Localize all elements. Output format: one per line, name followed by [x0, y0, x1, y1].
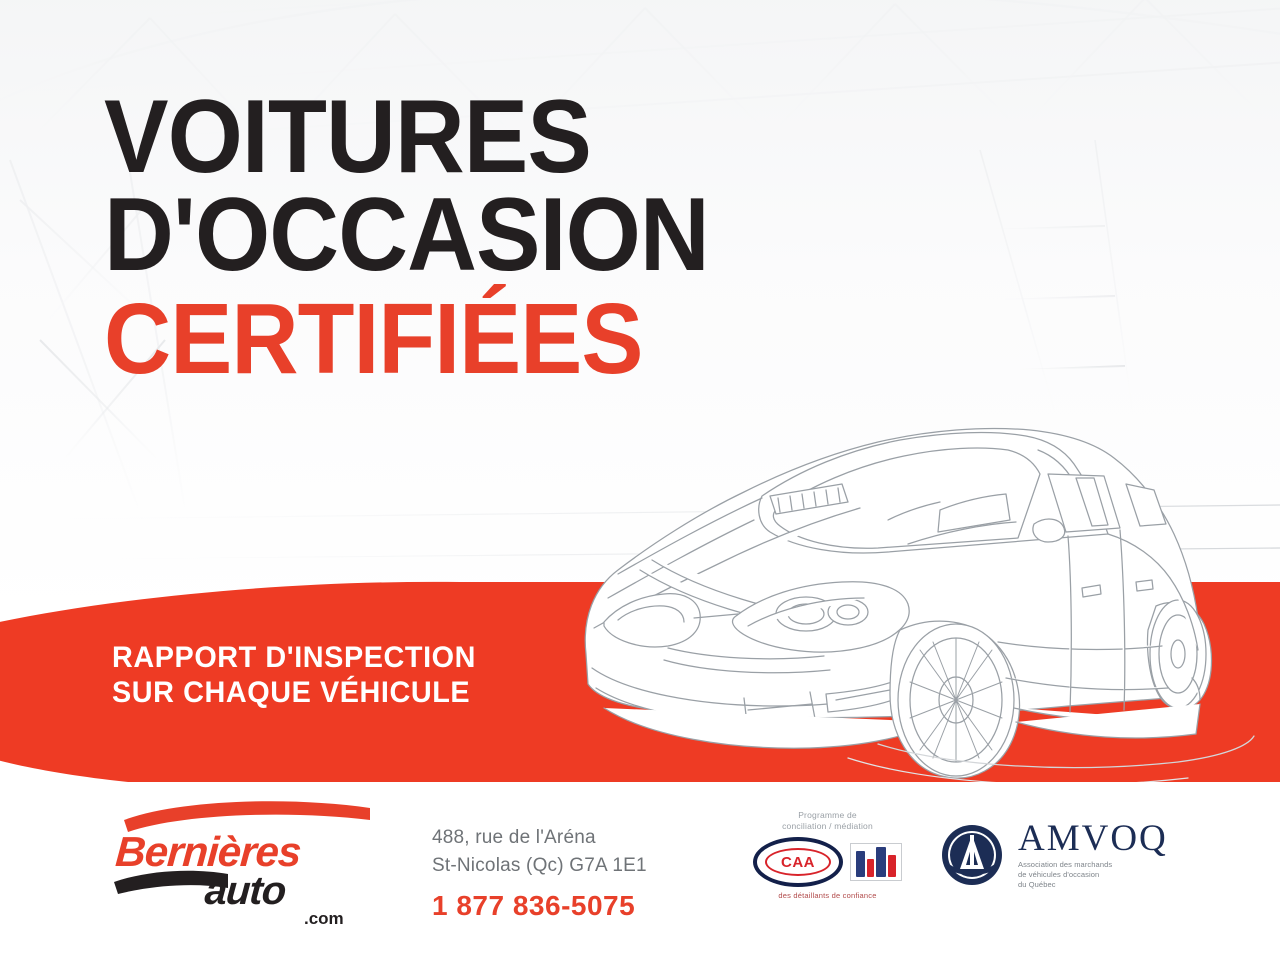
- tagline-line-1: RAPPORT D'INSPECTION: [112, 640, 476, 675]
- footer-bar: Bernières auto .com 488, rue de l'Aréna …: [0, 782, 1280, 960]
- caa-footer-note: des détaillants de confiance: [745, 891, 910, 900]
- svg-text:auto: auto: [203, 869, 287, 913]
- amvoq-sub-line-3: du Québec: [1018, 880, 1168, 890]
- page-title: VOITURES D'OCCASION CERTIFIÉES: [104, 92, 754, 389]
- caa-logo-row: CAA: [745, 837, 910, 887]
- amvoq-wordmark: AMVOQ Association des marchands de véhic…: [1018, 820, 1168, 890]
- caa-program-heading: Programme de conciliation / médiation: [745, 810, 910, 832]
- caa-heading-line-2: conciliation / médiation: [745, 821, 910, 832]
- partner-logo-icon: [850, 843, 902, 881]
- amvoq-logo-icon: [940, 823, 1004, 887]
- sedan-line-art-illustration: [548, 392, 1268, 792]
- caa-logo-label: CAA: [781, 855, 815, 870]
- svg-text:Bernières: Bernières: [114, 828, 302, 875]
- bernieres-auto-logo[interactable]: Bernières auto .com: [108, 790, 388, 930]
- caa-conciliation-badge: Programme de conciliation / médiation CA…: [745, 810, 910, 930]
- svg-text:.com: .com: [304, 909, 344, 928]
- caa-logo-icon: CAA: [753, 837, 843, 887]
- amvoq-sub-line-2: de véhicules d'occasion: [1018, 870, 1168, 880]
- tagline-line-2: SUR CHAQUE VÉHICULE: [112, 675, 476, 710]
- amvoq-name: AMVOQ: [1018, 820, 1168, 857]
- inspection-report-tagline: RAPPORT D'INSPECTION SUR CHAQUE VÉHICULE: [112, 640, 476, 711]
- dealer-address: 488, rue de l'Aréna St-Nicolas (Qc) G7A …: [432, 824, 647, 927]
- phone-number[interactable]: 1 877 836-5075: [432, 886, 647, 927]
- amvoq-subtitle: Association des marchands de véhicules d…: [1018, 860, 1168, 890]
- amvoq-badge: AMVOQ Association des marchands de véhic…: [940, 820, 1168, 890]
- caa-heading-line-1: Programme de: [745, 810, 910, 821]
- headline-line-3-certifiees: CERTIFIÉES: [104, 295, 709, 383]
- headline-line-2: D'OCCASION: [104, 190, 709, 282]
- amvoq-sub-line-1: Association des marchands: [1018, 860, 1168, 870]
- caa-logo-inner: CAA: [765, 848, 831, 876]
- address-line-1: 488, rue de l'Aréna: [432, 824, 647, 852]
- advertisement-poster: VOITURES D'OCCASION CERTIFIÉES RAPPORT D…: [0, 0, 1280, 960]
- headline-line-1: VOITURES: [104, 92, 709, 184]
- address-line-2: St-Nicolas (Qc) G7A 1E1: [432, 852, 647, 880]
